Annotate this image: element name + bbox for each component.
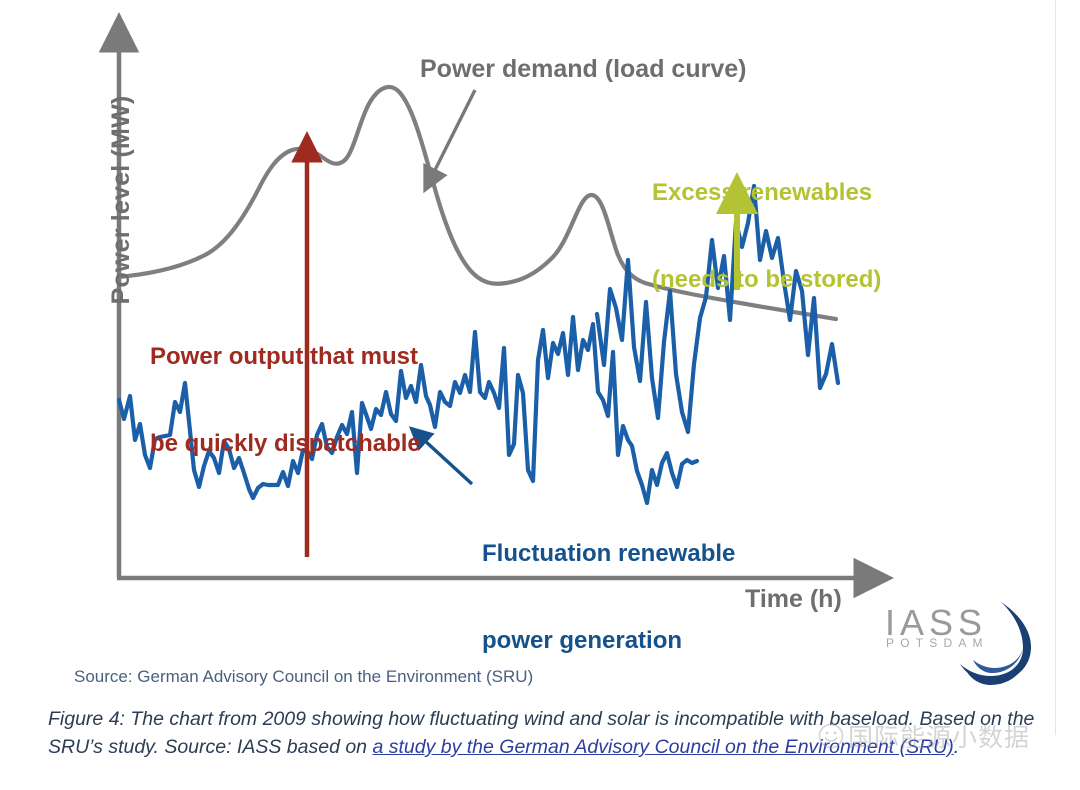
dispatchable-line2: be quickly dispatchable xyxy=(150,429,421,458)
fluctuation-line2: power generation xyxy=(482,626,735,655)
caption-text-part2: . xyxy=(954,736,959,758)
chart-figure: Power level (MW) Time (h) Power demand (… xyxy=(0,0,1080,700)
power-demand-label: Power demand (load curve) xyxy=(420,55,746,83)
source-note: Source: German Advisory Council on the E… xyxy=(74,667,533,686)
excess-renewables-label: Excess renewables (needs to be stored) xyxy=(652,119,881,353)
excess-renewables-line2: (needs to be stored) xyxy=(652,265,881,294)
fluctuation-line1: Fluctuation renewable xyxy=(482,539,735,568)
iass-logo: IASS POTSDAM xyxy=(885,600,1030,695)
iass-wave-icon xyxy=(957,600,1035,686)
dispatchable-line1: Power output that must xyxy=(150,342,421,371)
figure-page: Power level (MW) Time (h) Power demand (… xyxy=(0,0,1080,790)
x-axis-label: Time (h) xyxy=(745,585,842,613)
power-demand-pointer-arrow xyxy=(434,90,475,172)
fluctuation-pointer-arrow xyxy=(424,440,472,484)
y-axis-label: Power level (MW) xyxy=(107,75,135,325)
excess-renewables-line1: Excess renewables xyxy=(652,178,881,207)
caption-study-link[interactable]: a study by the German Advisory Council o… xyxy=(372,736,953,758)
dispatchable-label: Power output that must be quickly dispat… xyxy=(150,283,421,517)
figure-caption: Figure 4: The chart from 2009 showing ho… xyxy=(48,705,1058,761)
